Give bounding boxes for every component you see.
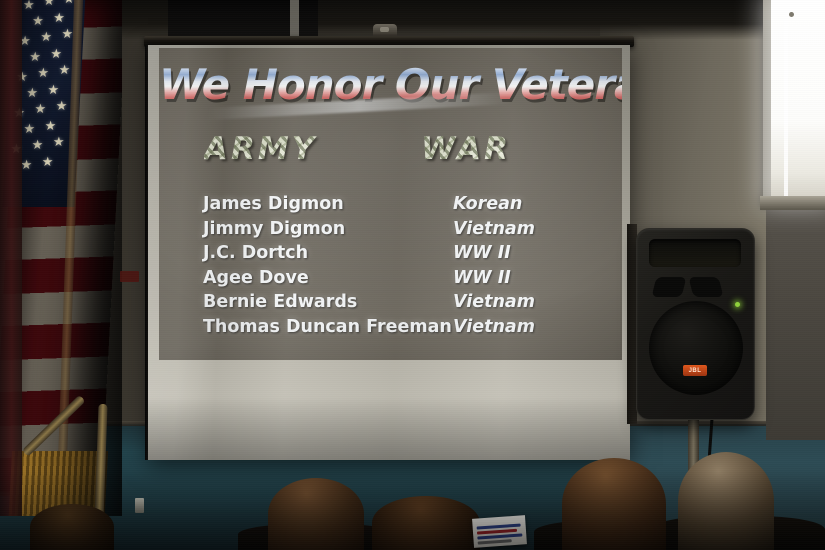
window-glass <box>771 0 825 196</box>
veteran-war: WW II <box>453 268 511 288</box>
column-header-war: WAR <box>421 131 511 167</box>
speaker-horn-right <box>689 277 724 297</box>
veteran-war: Korean <box>453 194 522 214</box>
speaker-handle <box>649 239 741 267</box>
veteran-war: Vietnam <box>453 317 535 337</box>
table-row: Jimmy Digmon Vietnam <box>203 219 603 244</box>
program-card <box>472 515 527 548</box>
ceiling-strip <box>290 0 299 36</box>
audience-head <box>562 458 666 550</box>
audience-head <box>268 478 364 550</box>
veteran-name: James Digmon <box>203 194 453 214</box>
veteran-war: Vietnam <box>453 292 535 312</box>
veteran-name: J.C. Dortch <box>203 243 453 263</box>
power-led-icon <box>735 302 740 307</box>
veteran-war: Vietnam <box>453 219 535 239</box>
table-row: James Digmon Korean <box>203 194 603 219</box>
audience-head <box>678 452 774 550</box>
veteran-name: Thomas Duncan Freeman <box>203 317 453 337</box>
audience-head <box>372 496 480 550</box>
veteran-name: Agee Dove <box>203 268 453 288</box>
veteran-name: Jimmy Digmon <box>203 219 453 239</box>
jbl-speaker: JBL <box>636 228 755 420</box>
light-switch[interactable] <box>135 498 144 513</box>
window-mullion <box>784 0 788 196</box>
table-row: Bernie Edwards Vietnam <box>203 292 603 317</box>
slide-title: We Honor Our Veterans <box>159 60 622 109</box>
window-latch-icon <box>789 12 794 17</box>
speaker-woofer <box>649 301 743 395</box>
column-header-army: ARMY <box>204 131 317 167</box>
wall-plaque <box>120 271 139 282</box>
photo-scene: We Honor Our Veterans ARMY WAR James Dig… <box>0 0 825 550</box>
wall-below-window <box>766 210 825 440</box>
veterans-roster: James Digmon Korean Jimmy Digmon Vietnam… <box>203 194 603 341</box>
curtain-edge <box>0 0 22 516</box>
table-row: J.C. Dortch WW II <box>203 243 603 268</box>
speaker-horn-left <box>652 277 687 297</box>
audience-head <box>30 504 114 550</box>
card-text-line <box>477 533 522 539</box>
veteran-name: Bernie Edwards <box>203 292 453 312</box>
table-row: Thomas Duncan Freeman Vietnam <box>203 317 603 342</box>
projected-slide: We Honor Our Veterans ARMY WAR James Dig… <box>159 48 622 360</box>
window-sill <box>760 196 825 210</box>
table-row: Agee Dove WW II <box>203 268 603 293</box>
card-text-line <box>478 539 512 544</box>
jbl-logo: JBL <box>683 365 707 376</box>
veteran-war: WW II <box>453 243 511 263</box>
